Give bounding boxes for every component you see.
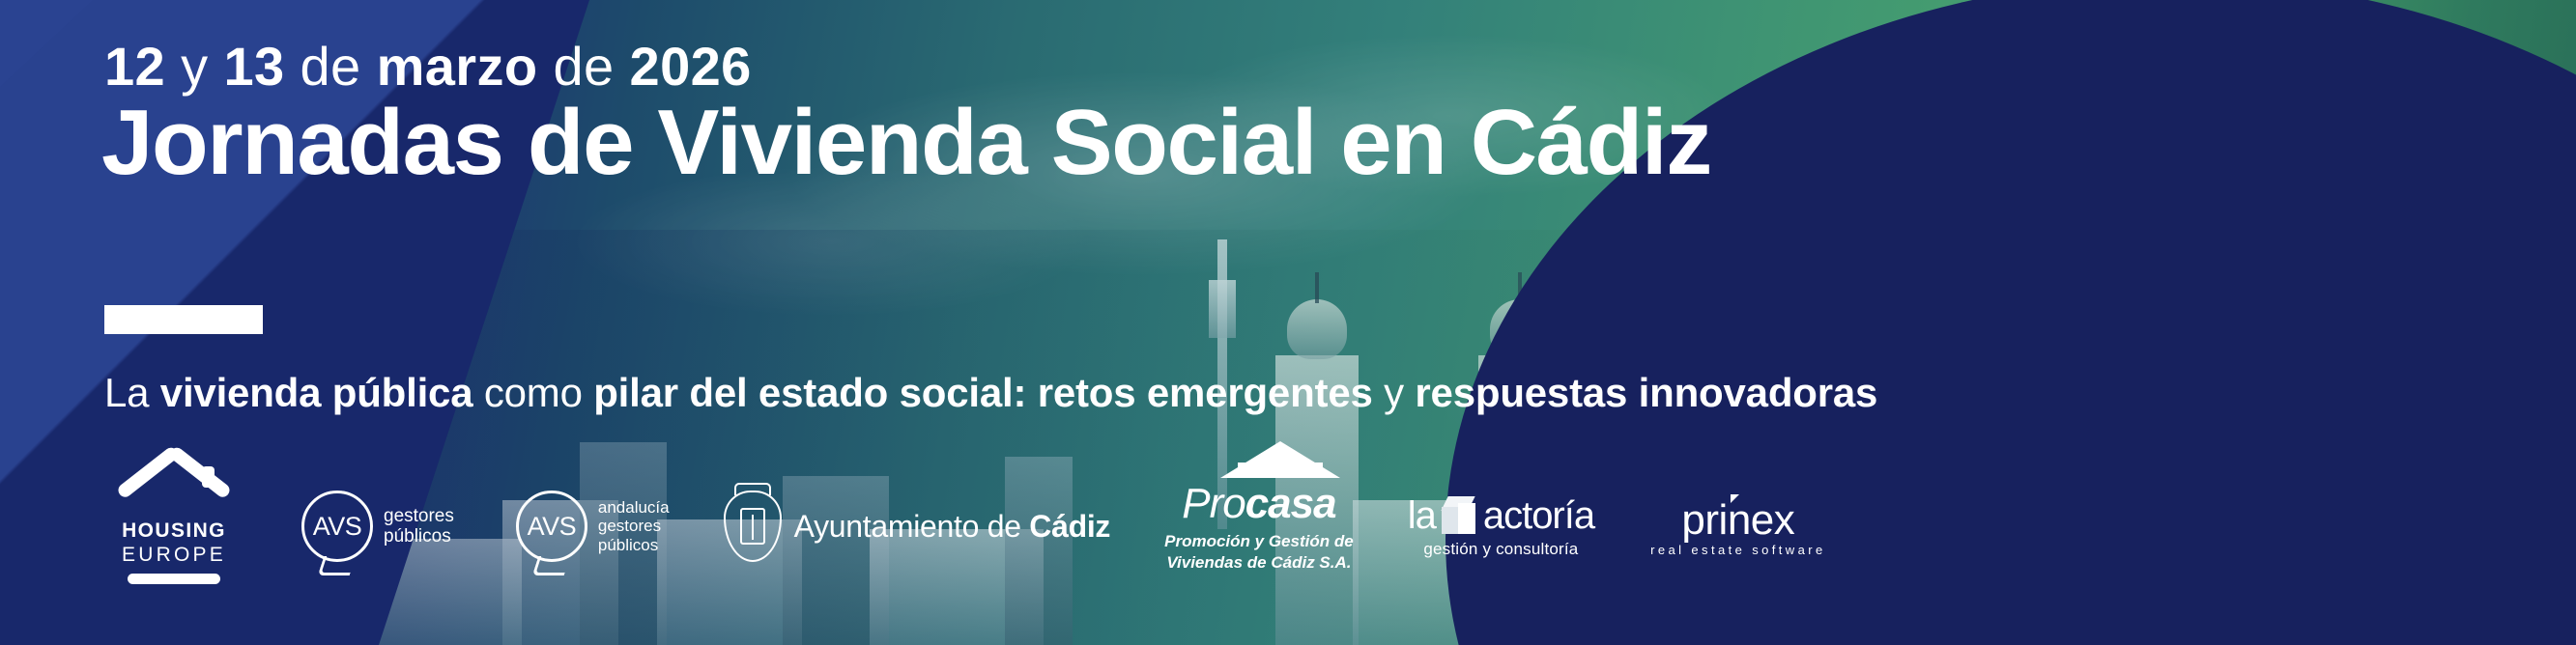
procasa-tagline-line2: Viviendas de Cádiz S.A. xyxy=(1164,552,1354,573)
logo-la-factoria[interactable]: la actoría gestión y consultoría xyxy=(1408,494,1594,559)
subtitle-bold-2: pilar del estado social: retos emergente… xyxy=(593,370,1372,415)
procasa-wordmark: Procasa xyxy=(1182,480,1335,528)
avs-andalucia-line1: andalucía xyxy=(598,498,670,517)
ayuntamiento-wordmark: Ayuntamiento de Cádiz xyxy=(794,509,1111,545)
avs-andalucia-line3: públicos xyxy=(598,536,670,554)
event-day1: 12 xyxy=(104,36,165,97)
procasa-tagline-line1: Promoción y Gestión de xyxy=(1164,531,1354,551)
event-title: Jornadas de Vivienda Social en Cádiz xyxy=(101,95,1711,192)
event-year: 2026 xyxy=(630,36,752,97)
avs-line1: gestores xyxy=(384,506,454,526)
procasa-word-bold: casa xyxy=(1245,480,1336,527)
title-divider-bar xyxy=(104,305,263,334)
event-banner: 12 y 13 de marzo de 2026 Jornadas de Viv… xyxy=(0,0,2576,645)
partner-logos-row: HOUSING EUROPE AVS gestores públicos AVS… xyxy=(97,454,1826,599)
procasa-word-light: Pro xyxy=(1182,480,1245,527)
subtitle-part-2: como xyxy=(472,370,593,415)
event-day2: 13 xyxy=(223,36,284,97)
avs-andalucia-wordmark: andalucía gestores públicos xyxy=(598,498,670,553)
avs-circle-check-icon: AVS xyxy=(516,491,587,562)
event-subtitle: La vivienda pública como pilar del estad… xyxy=(104,370,1877,416)
avs-line2: públicos xyxy=(384,526,454,547)
logo-ayuntamiento-de-cadiz[interactable]: Ayuntamiento de Cádiz xyxy=(724,491,1111,562)
la-factoria-word1: la xyxy=(1408,494,1436,538)
logo-procasa[interactable]: Procasa Promoción y Gestión de Viviendas… xyxy=(1164,480,1354,573)
housing-europe-line2: EUROPE xyxy=(122,544,226,567)
banner-content: 12 y 13 de marzo de 2026 Jornadas de Viv… xyxy=(0,0,2576,645)
roof-icon xyxy=(122,468,226,513)
coat-of-arms-icon xyxy=(724,491,782,562)
logo-avs-gestores-publicos[interactable]: AVS gestores públicos xyxy=(301,491,454,562)
la-factoria-wordmark: la actoría xyxy=(1408,494,1594,538)
procasa-tagline: Promoción y Gestión de Viviendas de Cádi… xyxy=(1164,531,1354,573)
housing-europe-underline xyxy=(128,574,220,584)
event-date-conjunction: y xyxy=(181,36,208,97)
la-factoria-word2: actoría xyxy=(1483,494,1594,538)
event-date-de-1: de xyxy=(301,36,361,97)
avs-monogram: AVS xyxy=(528,512,577,542)
housing-europe-line1: HOUSING xyxy=(122,519,226,543)
subtitle-bold-1: vivienda pública xyxy=(160,370,473,415)
logo-housing-europe[interactable]: HOUSING EUROPE xyxy=(97,468,251,584)
cube-f-icon xyxy=(1438,494,1482,537)
prinex-wordmark: prinex xyxy=(1681,496,1794,545)
avs-wordmark: gestores públicos xyxy=(384,506,454,547)
event-date: 12 y 13 de marzo de 2026 xyxy=(104,35,752,98)
avs-monogram: AVS xyxy=(313,512,362,542)
ayuntamiento-bold: Cádiz xyxy=(1029,509,1110,544)
event-month: marzo xyxy=(377,36,538,97)
subtitle-part-1: La xyxy=(104,370,160,415)
event-date-de-2: de xyxy=(553,36,614,97)
prinex-tagline: real estate software xyxy=(1650,543,1825,557)
avs-circle-check-icon: AVS xyxy=(301,491,373,562)
chevron-roof-icon xyxy=(1220,441,1340,478)
ayuntamiento-light: Ayuntamiento de xyxy=(794,509,1030,544)
subtitle-bold-3: respuestas innovadoras xyxy=(1415,370,1877,415)
la-factoria-tagline: gestión y consultoría xyxy=(1423,540,1578,559)
logo-avs-andalucia[interactable]: AVS andalucía gestores públicos xyxy=(516,491,670,562)
logo-prinex[interactable]: prinex real estate software xyxy=(1650,496,1825,557)
avs-andalucia-line2: gestores xyxy=(598,517,670,535)
subtitle-part-3: y xyxy=(1373,370,1416,415)
